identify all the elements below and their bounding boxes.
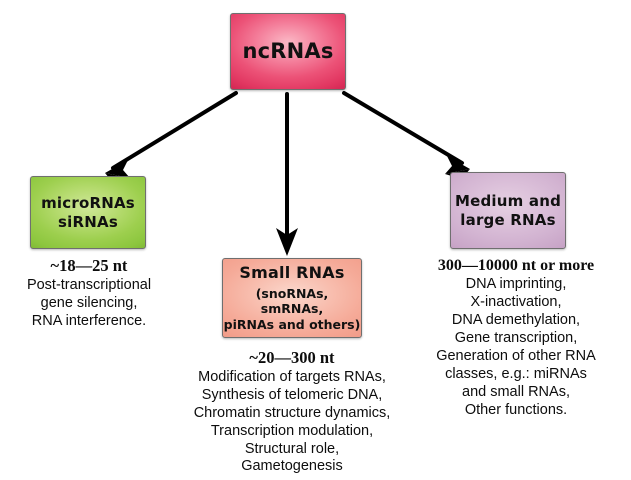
caption-line: DNA imprinting, [404, 276, 628, 294]
caption-line: Other functions. [404, 402, 628, 420]
caption-line: Synthesis of telomeric DNA, [158, 387, 426, 405]
caption-smallrnas: ~20—300 nt Modification of targets RNAs,… [158, 348, 426, 476]
node-micrornas-line-1: microRNAs [41, 194, 135, 212]
node-ncrnas-label: ncRNAs [242, 39, 333, 65]
caption-line: RNA interference. [0, 313, 178, 331]
caption-mediumlarge-head: 300—10000 nt or more [404, 256, 628, 276]
node-micrornas-line-2: siRNAs [58, 213, 118, 231]
node-smallrnas[interactable]: Small RNAs (snoRNAs, smRNAs, piRNAs and … [222, 258, 362, 338]
caption-line: gene silencing, [0, 295, 178, 313]
caption-smallrnas-head: ~20—300 nt [158, 348, 426, 369]
node-mediumlarge-line-2: large RNAs [460, 211, 555, 229]
caption-line: Modification of targets RNAs, [158, 369, 426, 387]
node-smallrnas-sub-1: (snoRNAs, smRNAs, [223, 286, 361, 317]
arrow-to-smallrnas-icon [276, 94, 298, 256]
diagram-canvas: ncRNAs microRNAs siRNAs ~18—25 nt Post-t… [0, 0, 631, 480]
node-smallrnas-label: Small RNAs [239, 263, 344, 283]
caption-line: and small RNAs, [404, 384, 628, 402]
node-ncrnas[interactable]: ncRNAs [230, 13, 346, 90]
node-mediumlarge[interactable]: Medium and large RNAs [450, 172, 566, 249]
caption-line: Gene transcription, [404, 330, 628, 348]
caption-line: X-inactivation, [404, 294, 628, 312]
caption-smallrnas-body: Modification of targets RNAs, Synthesis … [158, 369, 426, 477]
caption-micrornas: ~18—25 nt Post-transcriptional gene sile… [0, 256, 178, 331]
node-smallrnas-sub-2: piRNAs and others) [224, 317, 361, 333]
node-mediumlarge-line-1: Medium and [455, 192, 561, 210]
caption-line: Generation of other RNA [404, 348, 628, 366]
caption-line: Post-transcriptional [0, 277, 178, 295]
caption-line: classes, e.g.: miRNAs [404, 366, 628, 384]
caption-line: Chromatin structure dynamics, [158, 405, 426, 423]
node-micrornas[interactable]: microRNAs siRNAs [30, 176, 146, 249]
caption-line: Structural role, [158, 441, 426, 459]
caption-mediumlarge: 300—10000 nt or more DNA imprinting, X-i… [404, 256, 628, 420]
caption-micrornas-body: Post-transcriptional gene silencing, RNA… [0, 277, 178, 331]
caption-line: Transcription modulation, [158, 423, 426, 441]
caption-line: Gametogenesis [158, 458, 426, 476]
caption-line: DNA demethylation, [404, 312, 628, 330]
caption-mediumlarge-body: DNA imprinting, X-inactivation, DNA deme… [404, 276, 628, 420]
caption-micrornas-head: ~18—25 nt [0, 256, 178, 277]
